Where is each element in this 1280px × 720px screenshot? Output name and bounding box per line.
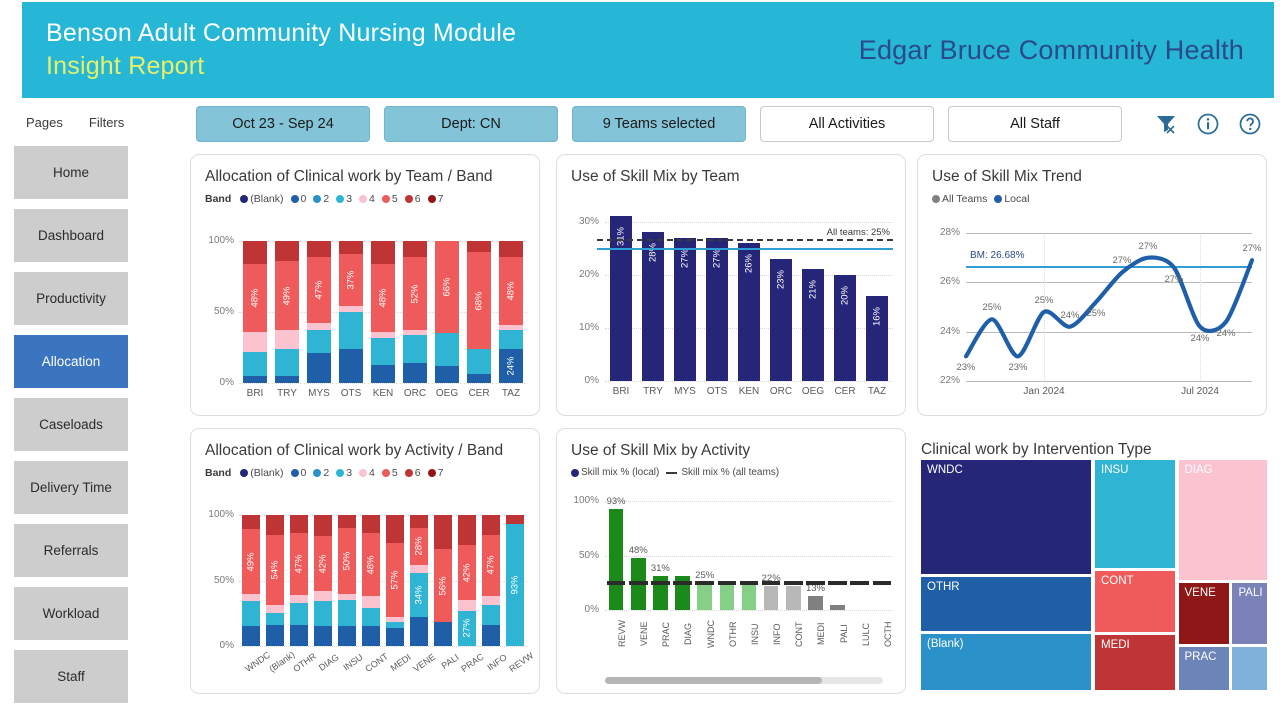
plot-activity-band: 0%50%100%49%WNDC54%(Blank)47%OTHR42%DIAG… — [205, 515, 527, 660]
bar-segment-band-3[interactable] — [242, 601, 260, 626]
point-data-label: 27% — [1134, 241, 1162, 252]
reference-line-0 — [597, 239, 893, 241]
stacked-bar[interactable]: 27%42% — [458, 515, 476, 646]
bar-segment-band-5[interactable]: 56% — [434, 549, 452, 622]
point-data-label: 25% — [978, 302, 1006, 313]
bar-segment-band-5[interactable]: 47% — [307, 257, 331, 324]
bar-data-label: 49% — [245, 552, 256, 571]
x-axis-tick: OEG — [797, 386, 829, 397]
bar-segment-band-4[interactable] — [242, 594, 260, 602]
legend-label: 6 — [415, 193, 421, 205]
legend-skill-activity[interactable]: Skill mix % (local)Skill mix % (all team… — [557, 461, 905, 478]
legend-swatch — [666, 472, 677, 474]
bar-segment-band-4[interactable] — [371, 332, 395, 338]
x-axis-tick: ORC — [765, 386, 797, 397]
help-icon[interactable] — [1238, 112, 1262, 136]
bar-segment-band-3[interactable]: 34% — [410, 573, 428, 618]
legend-swatch — [932, 195, 940, 203]
bar-data-label: 56% — [437, 576, 448, 595]
bar-data-label: 21% — [807, 280, 818, 299]
legend-label: 3 — [346, 467, 352, 479]
sidebar-item-home[interactable]: Home — [14, 146, 128, 199]
y-axis-tick: 0% — [205, 377, 234, 388]
bar-segment-band-0[interactable] — [403, 363, 427, 383]
bar-segment-band-5[interactable]: 49% — [275, 261, 299, 331]
treemap-tile-othr[interactable]: OTHR — [921, 577, 1091, 631]
stacked-bar[interactable]: 66% — [435, 241, 459, 383]
bar-segment-band-0[interactable] — [307, 353, 331, 383]
band-legend-team[interactable]: Band(Blank)0234567 — [191, 187, 539, 205]
bar-segment-band-3[interactable] — [290, 603, 308, 625]
bar-segment-band-5[interactable]: 28% — [410, 528, 428, 565]
bar-segment-band-4[interactable] — [410, 565, 428, 573]
all-teams-reference-marker — [873, 581, 892, 586]
bar-segment-band-0[interactable] — [371, 365, 395, 383]
bar-segment-band-3[interactable] — [386, 622, 404, 627]
point-data-label: 24% — [1186, 333, 1214, 344]
gridline — [605, 501, 893, 502]
bar-data-label: 42% — [461, 563, 472, 582]
bar-data-label: 48% — [377, 288, 388, 307]
bar-segment-band-4[interactable] — [243, 332, 267, 352]
bar-segment-band-4[interactable] — [482, 596, 500, 605]
bar-MEDI[interactable] — [808, 596, 823, 610]
bar-segment-band-6[interactable] — [290, 515, 308, 533]
filters-label: Filters — [89, 115, 124, 130]
filter-chip-9-teams-selected[interactable]: 9 Teams selected — [572, 106, 746, 142]
bar-segment-band-6[interactable] — [307, 241, 331, 257]
legend-label: (Blank) — [250, 467, 283, 479]
bar-MYS[interactable]: 27% — [674, 238, 696, 381]
bar-data-label: 34% — [413, 585, 424, 604]
bar-PALI[interactable] — [830, 605, 845, 610]
bar-segment-band-4[interactable] — [339, 306, 363, 312]
filter-chip-all-staff[interactable]: All Staff — [948, 106, 1122, 142]
legend-label: 6 — [415, 467, 421, 479]
legend-swatch — [313, 469, 321, 477]
horizontal-scrollbar[interactable] — [605, 677, 883, 684]
bar-segment-band-0[interactable] — [410, 617, 428, 646]
bar-segment-band-5[interactable]: 54% — [266, 535, 284, 606]
filter-chip-oct-23-sep-24[interactable]: Oct 23 - Sep 24 — [196, 106, 370, 142]
legend-item-all-teams[interactable]: All Teams — [932, 193, 987, 205]
bar-segment-band-0[interactable] — [434, 622, 452, 646]
bar-segment-band-6[interactable] — [339, 241, 363, 254]
bar-segment-band-5[interactable]: 42% — [314, 536, 332, 591]
point-data-label: 27% — [1108, 255, 1136, 266]
stacked-bar[interactable]: 47% — [290, 515, 308, 646]
bar-segment-band-5[interactable]: 49% — [242, 529, 260, 593]
bar-segment-band-6[interactable] — [499, 241, 523, 257]
x-axis-tick: CER — [463, 388, 495, 399]
bar-segment-band-3[interactable] — [499, 330, 523, 348]
x-axis-tick: PRAC — [459, 652, 484, 674]
stacked-bar[interactable]: 49% — [242, 515, 260, 646]
sidebar-item-label: Caseloads — [39, 417, 103, 432]
legend-item-band-3[interactable]: 3 — [336, 467, 352, 479]
stacked-bar[interactable]: 48% — [362, 515, 380, 646]
bar-segment-band-5[interactable]: 47% — [482, 535, 500, 597]
treemap-tile-blank[interactable]: (Blank) — [921, 634, 1091, 690]
x-axis-tick: MYS — [669, 386, 701, 397]
bar-segment-band-5[interactable]: 48% — [371, 264, 395, 332]
bar-segment-band-5[interactable]: 52% — [403, 257, 427, 331]
legend-swatch — [336, 195, 344, 203]
legend-swatch — [571, 469, 579, 477]
stacked-bar[interactable]: 24%48% — [499, 241, 523, 383]
bar-segment-band-0[interactable] — [435, 366, 459, 383]
bar-segment-band-4[interactable] — [403, 330, 427, 334]
legend-label: 7 — [438, 467, 444, 479]
bar-ORC[interactable]: 23% — [770, 259, 792, 381]
treemap-tile-prac[interactable]: PRAC — [1179, 647, 1229, 690]
bar-segment-band-3[interactable] — [371, 338, 395, 365]
x-axis-tick: VENE — [627, 614, 649, 654]
bar-segment-band-6[interactable] — [242, 515, 260, 529]
legend-item-skill-mix-local[interactable]: Skill mix % (local) — [571, 467, 659, 478]
bar-TRY[interactable]: 28% — [642, 232, 664, 381]
treemap-tile-label: PALI — [1238, 587, 1262, 599]
header-titles: Benson Adult Community Nursing Module In… — [46, 19, 516, 81]
bar-segment-band-0[interactable] — [386, 628, 404, 646]
x-axis-tick: TAZ — [861, 386, 893, 397]
bar-segment-band-4[interactable] — [386, 617, 404, 622]
bar-segment-band-3[interactable]: 27% — [458, 611, 476, 646]
y-axis-tick: 30% — [571, 216, 599, 227]
report-subtitle: Insight Report — [46, 52, 516, 81]
bar-segment-band-5[interactable]: 68% — [467, 252, 491, 349]
chart-title-activity-band: Allocation of Clinical work by Activity … — [191, 429, 539, 461]
module-title: Benson Adult Community Nursing Module — [46, 19, 516, 48]
legend-item-band-5[interactable]: 5 — [382, 193, 398, 205]
bar-WNDC[interactable] — [697, 583, 712, 610]
legend-item-band-7[interactable]: 7 — [428, 467, 444, 479]
bar-segment-band-6[interactable] — [410, 515, 428, 528]
chart-title-team-band: Allocation of Clinical work by Team / Ba… — [191, 155, 539, 187]
bar-segment-band-5[interactable]: 57% — [386, 543, 404, 618]
filter-chip-all-activities[interactable]: All Activities — [760, 106, 934, 142]
bar-segment-band-6[interactable] — [506, 515, 524, 524]
bar-OTS[interactable]: 27% — [706, 238, 728, 381]
legend-item-band-blank[interactable]: (Blank) — [240, 193, 283, 205]
legend-item-band-2[interactable]: 2 — [313, 193, 329, 205]
x-axis-tick: OEG — [431, 388, 463, 399]
bar-segment-band-5[interactable]: 42% — [458, 545, 476, 600]
stacked-bar[interactable]: 50% — [338, 515, 356, 646]
sidebar-item-productivity[interactable]: Productivity — [14, 272, 128, 325]
x-axis-tick: TRY — [637, 386, 669, 397]
treemap-tile-label: PRAC — [1185, 651, 1217, 663]
bar-segment-band-6[interactable] — [314, 515, 332, 536]
sidebar-item-label: Staff — [57, 669, 85, 684]
stacked-bar[interactable]: 47% — [307, 241, 331, 383]
stacked-bar[interactable]: 49% — [275, 241, 299, 383]
bar-segment-band-6[interactable] — [266, 515, 284, 535]
bar-segment-band-4[interactable] — [266, 605, 284, 613]
scrollbar-thumb[interactable] — [605, 677, 822, 684]
bar-segment-band-6[interactable] — [434, 515, 452, 549]
legend-item-local[interactable]: Local — [994, 193, 1029, 205]
bar-segment-band-5[interactable]: 48% — [499, 257, 523, 325]
treemap-tile-medi[interactable]: MEDI — [1095, 635, 1175, 690]
gridline — [605, 610, 893, 611]
stacked-bar[interactable]: 68% — [467, 241, 491, 383]
legend-label: All Teams — [942, 193, 987, 205]
bar-segment-band-6[interactable] — [275, 241, 299, 261]
stacked-bar[interactable]: 48% — [371, 241, 395, 383]
clear-filters-icon[interactable] — [1154, 112, 1178, 136]
bar-OEG[interactable]: 21% — [802, 269, 824, 381]
legend-label: 5 — [392, 193, 398, 205]
stacked-bar[interactable]: 52% — [403, 241, 427, 383]
stacked-bar[interactable]: 47% — [482, 515, 500, 646]
sidebar-item-allocation[interactable]: Allocation — [14, 335, 128, 388]
bar-segment-band-0[interactable] — [314, 626, 332, 646]
bar-segment-band-0[interactable] — [482, 625, 500, 646]
page-navigation-rail[interactable]: HomeDashboardProductivityAllocationCasel… — [14, 146, 128, 703]
bar-segment-band-3[interactable] — [307, 330, 331, 353]
plot-skill-team: 0%10%20%30%31%BRI28%TRY27%MYS27%OTS26%KE… — [571, 211, 893, 401]
bar-segment-band-3[interactable] — [435, 333, 459, 366]
bar-data-label: 24% — [505, 356, 516, 375]
legend-label: Skill mix % (local) — [581, 467, 659, 478]
sidebar-item-delivery-time[interactable]: Delivery Time — [14, 461, 128, 514]
bar-segment-band-6[interactable] — [362, 515, 380, 533]
legend-item-band-4[interactable]: 4 — [359, 193, 375, 205]
bar-segment-band-0[interactable] — [243, 376, 267, 383]
bar-segment-band-4[interactable] — [314, 591, 332, 601]
bar-data-label: 23% — [775, 270, 786, 289]
legend-skill-trend[interactable]: All TeamsLocal — [918, 187, 1266, 205]
treemap-tile-cont[interactable]: CONT — [1095, 571, 1175, 632]
legend-label: (Blank) — [250, 193, 283, 205]
legend-label: 4 — [369, 467, 375, 479]
point-data-label: 25% — [1030, 295, 1058, 306]
bar-segment-band-6[interactable] — [243, 241, 267, 264]
bar-segment-band-5[interactable]: 50% — [338, 528, 356, 594]
filter-bar[interactable]: Oct 23 - Sep 24Dept: CN9 Teams selectedA… — [196, 106, 1262, 142]
bar-segment-band-4[interactable] — [458, 600, 476, 610]
bar-segment-band-3[interactable]: 93% — [506, 524, 524, 646]
stacked-bar[interactable]: 54% — [266, 515, 284, 646]
legend-label: 2 — [323, 193, 329, 205]
legend-swatch — [359, 469, 367, 477]
gridline — [239, 646, 527, 647]
bar-data-label: 50% — [341, 551, 352, 570]
legend-item-band-0[interactable]: 0 — [291, 467, 307, 479]
bar-data-label: 28% — [413, 537, 424, 556]
bar-segment-band-6[interactable] — [386, 515, 404, 543]
x-axis-tick: KEN — [733, 386, 765, 397]
bar-segment-band-0[interactable]: 24% — [499, 349, 523, 383]
legend-item-band-6[interactable]: 6 — [405, 467, 421, 479]
legend-item-band-4[interactable]: 4 — [359, 467, 375, 479]
all-teams-reference-marker — [673, 581, 692, 586]
x-axis-tick: BRI — [239, 388, 271, 399]
x-axis-tick: PALI — [827, 614, 849, 654]
band-legend-label: Band — [205, 467, 231, 479]
bar-INSU[interactable] — [742, 583, 757, 610]
bar-segment-band-5[interactable]: 66% — [435, 241, 459, 333]
bar-segment-band-5[interactable]: 48% — [243, 264, 267, 332]
legend-item-band-0[interactable]: 0 — [291, 193, 307, 205]
bar-data-label: 37% — [345, 271, 356, 290]
legend-label: 2 — [323, 467, 329, 479]
bar-segment-band-3[interactable] — [362, 608, 380, 626]
sidebar-item-referrals[interactable]: Referrals — [14, 524, 128, 577]
bar-segment-band-6[interactable] — [403, 241, 427, 257]
legend-item-band-5[interactable]: 5 — [382, 467, 398, 479]
sidebar-item-caseloads[interactable]: Caseloads — [14, 398, 128, 451]
bar-segment-band-6[interactable] — [467, 241, 491, 252]
x-axis-tick: INFO — [760, 614, 782, 654]
bar-data-label: 52% — [409, 284, 420, 303]
treemap-tile[interactable] — [1232, 647, 1267, 690]
stacked-bar[interactable]: 56% — [434, 515, 452, 646]
stacked-bar[interactable]: 57% — [386, 515, 404, 646]
legend-label: 0 — [301, 193, 307, 205]
x-axis-tick: (Blank) — [267, 652, 292, 674]
all-teams-reference-marker — [850, 581, 869, 586]
band-legend-label: Band — [205, 193, 231, 205]
x-axis-tick: CONT — [363, 652, 388, 674]
rail-header: Pages Filters — [26, 115, 191, 130]
reference-line-1 — [597, 248, 893, 250]
bar-data-label: 31% — [615, 227, 626, 246]
treemap-tile-diag[interactable]: DIAG — [1179, 460, 1267, 580]
bar-OTHR[interactable] — [720, 583, 735, 610]
sidebar-item-staff[interactable]: Staff — [14, 650, 128, 703]
legend-label: 7 — [438, 193, 444, 205]
x-axis-tick: ORC — [399, 388, 431, 399]
bar-REVW[interactable] — [609, 509, 624, 610]
stacked-bar[interactable]: 93% — [506, 515, 524, 646]
stacked-bar[interactable]: 48% — [243, 241, 267, 383]
bar-segment-band-0[interactable] — [362, 626, 380, 646]
bar-segment-band-3[interactable] — [467, 349, 491, 375]
x-axis-tick: CONT — [782, 614, 804, 654]
info-icon[interactable] — [1196, 112, 1220, 136]
stacked-bar[interactable]: 34%28% — [410, 515, 428, 646]
band-legend-activity[interactable]: Band(Blank)0234567 — [191, 461, 539, 479]
bar-segment-band-3[interactable] — [243, 352, 267, 376]
legend-swatch — [240, 195, 248, 203]
treemap-tile-insu[interactable]: INSU — [1095, 460, 1175, 568]
sidebar-item-label: Dashboard — [38, 228, 104, 243]
sidebar-item-label: Workload — [43, 606, 100, 621]
all-teams-reference-marker — [762, 581, 781, 586]
bar-segment-band-5[interactable]: 47% — [290, 533, 308, 595]
bar-segment-band-0[interactable] — [242, 626, 260, 646]
bar-segment-band-5[interactable]: 48% — [362, 533, 380, 596]
bar-segment-band-3[interactable] — [339, 312, 363, 349]
legend-swatch — [240, 469, 248, 477]
bar-segment-band-4[interactable] — [275, 330, 299, 348]
bar-data-label: 54% — [269, 561, 280, 580]
bar-INFO[interactable] — [764, 586, 779, 610]
legend-item-band-blank[interactable]: (Blank) — [240, 467, 283, 479]
card-allocation-by-team-band: Allocation of Clinical work by Team / Ba… — [190, 154, 540, 416]
treemap-tile-pali[interactable]: PALI — [1232, 583, 1267, 644]
bar-data-label: 49% — [281, 286, 292, 305]
sidebar-item-label: Productivity — [36, 291, 106, 306]
legend-swatch — [359, 195, 367, 203]
bar-segment-band-3[interactable] — [266, 613, 284, 625]
y-axis-tick: 50% — [571, 550, 599, 561]
bar-segment-band-3[interactable] — [338, 600, 356, 626]
x-axis-tick: KEN — [367, 388, 399, 399]
treemap-tile-wndc[interactable]: WNDC — [921, 460, 1091, 574]
bar-segment-band-4[interactable] — [290, 595, 308, 603]
bar-segment-band-3[interactable] — [314, 601, 332, 626]
bar-segment-band-0[interactable] — [275, 376, 299, 383]
x-axis-tick: TAZ — [495, 388, 527, 399]
bar-segment-band-6[interactable] — [482, 515, 500, 535]
bar-segment-band-4[interactable] — [499, 325, 523, 331]
bar-data-label: 93% — [509, 576, 520, 595]
bar-segment-band-0[interactable] — [339, 349, 363, 383]
legend-swatch — [405, 195, 413, 203]
legend-item-band-7[interactable]: 7 — [428, 193, 444, 205]
bar-data-label: 48% — [249, 288, 260, 307]
legend-item-band-3[interactable]: 3 — [336, 193, 352, 205]
sidebar-item-dashboard[interactable]: Dashboard — [14, 209, 128, 262]
legend-item-band-6[interactable]: 6 — [405, 193, 421, 205]
bar-segment-band-5[interactable]: 37% — [339, 254, 363, 307]
filter-chip-dept-cn[interactable]: Dept: CN — [384, 106, 558, 142]
legend-swatch — [428, 469, 436, 477]
bar-segment-band-4[interactable] — [307, 323, 331, 330]
point-data-label: 27% — [1238, 243, 1266, 254]
bar-segment-band-3[interactable] — [403, 335, 427, 363]
x-axis-tick: CER — [829, 386, 861, 397]
bar-CONT[interactable] — [786, 586, 801, 610]
card-skill-mix-by-team: Use of Skill Mix by Team 0%10%20%30%31%B… — [556, 154, 906, 416]
sidebar-item-label: Allocation — [42, 354, 101, 369]
bar-segment-band-4[interactable] — [362, 596, 380, 608]
bar-KEN[interactable]: 26% — [738, 243, 760, 381]
bar-segment-band-0[interactable] — [467, 374, 491, 383]
bar-data-label: 48% — [365, 555, 376, 574]
bar-data-label: 16% — [871, 307, 882, 326]
bar-segment-band-0[interactable] — [338, 626, 356, 646]
bar-segment-band-0[interactable] — [266, 625, 284, 646]
bar-segment-band-0[interactable] — [290, 625, 308, 646]
filter-bar-icons[interactable] — [1154, 112, 1262, 136]
treemap-tile-label: DIAG — [1185, 464, 1213, 476]
x-axis-tick: DIAG — [671, 614, 693, 654]
legend-item-skill-mix-all-teams[interactable]: Skill mix % (all teams) — [666, 467, 779, 478]
all-teams-reference-marker — [607, 581, 626, 586]
bar-CER[interactable]: 20% — [834, 275, 856, 381]
bar-segment-band-3[interactable] — [482, 605, 500, 625]
bar-TAZ[interactable]: 16% — [866, 296, 888, 381]
sidebar-item-workload[interactable]: Workload — [14, 587, 128, 640]
stacked-bar[interactable]: 37% — [339, 241, 363, 383]
bar-segment-band-6[interactable] — [338, 515, 356, 528]
bar-segment-band-4[interactable] — [338, 594, 356, 601]
legend-item-band-2[interactable]: 2 — [313, 467, 329, 479]
bar-segment-band-6[interactable] — [458, 515, 476, 545]
bar-segment-band-3[interactable] — [275, 349, 299, 376]
bar-data-label: 27% — [679, 249, 690, 268]
bar-data-label: 47% — [293, 555, 304, 574]
treemap[interactable]: WNDCOTHR(Blank)INSUDIAGCONTMEDIVENEPALIP… — [921, 460, 1269, 692]
treemap-tile-vene[interactable]: VENE — [1179, 583, 1229, 644]
stacked-bar[interactable]: 42% — [314, 515, 332, 646]
legend-label: Skill mix % (all teams) — [681, 467, 779, 478]
bar-segment-band-6[interactable] — [371, 241, 395, 264]
